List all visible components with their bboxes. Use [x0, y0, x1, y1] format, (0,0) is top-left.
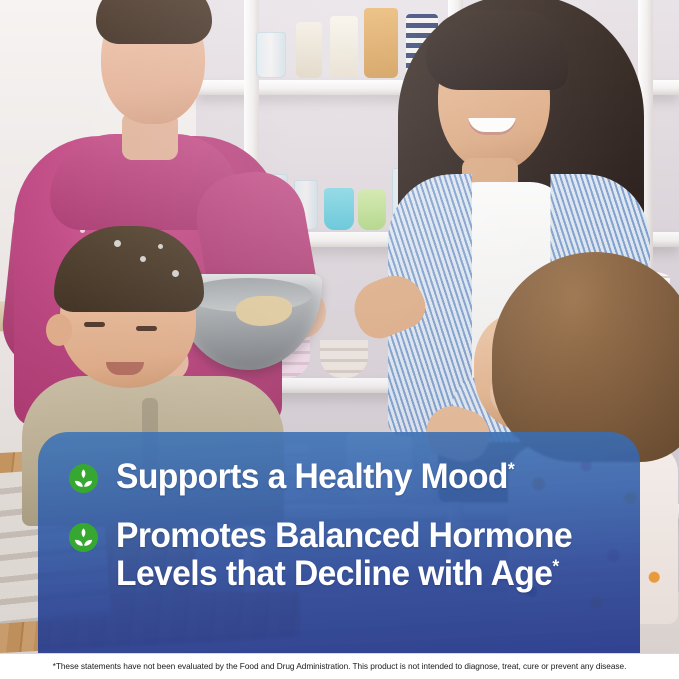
leaf-sprout-icon — [68, 463, 99, 494]
claim-item: Promotes Balanced Hormone Levels that De… — [68, 517, 612, 592]
hair — [54, 226, 204, 312]
leaf-sprout-icon — [68, 522, 99, 553]
hair — [492, 252, 679, 462]
hair-front — [426, 10, 568, 90]
disclaimer-text: *These statements have not been evaluate… — [53, 662, 627, 672]
banner-root: Supports a Healthy Mood* Promotes Balanc… — [0, 0, 679, 679]
claim-text: Supports a Healthy Mood* — [116, 458, 514, 495]
footnote-marker: * — [552, 556, 558, 576]
fda-disclaimer: *These statements have not been evaluate… — [0, 653, 679, 679]
eye — [136, 326, 157, 331]
claims-panel: Supports a Healthy Mood* Promotes Balanc… — [38, 432, 640, 653]
ear — [46, 314, 72, 346]
footnote-marker: * — [508, 459, 514, 479]
claim-text: Promotes Balanced Hormone Levels that De… — [116, 517, 592, 592]
eye — [84, 322, 105, 327]
ceramic-jar — [330, 16, 358, 78]
claim-item: Supports a Healthy Mood* — [68, 458, 612, 495]
claim-label: Supports a Healthy Mood — [116, 457, 508, 496]
hair — [96, 0, 212, 44]
claim-label: Promotes Balanced Hormone Levels that De… — [116, 516, 572, 592]
teal-cup — [324, 188, 354, 230]
